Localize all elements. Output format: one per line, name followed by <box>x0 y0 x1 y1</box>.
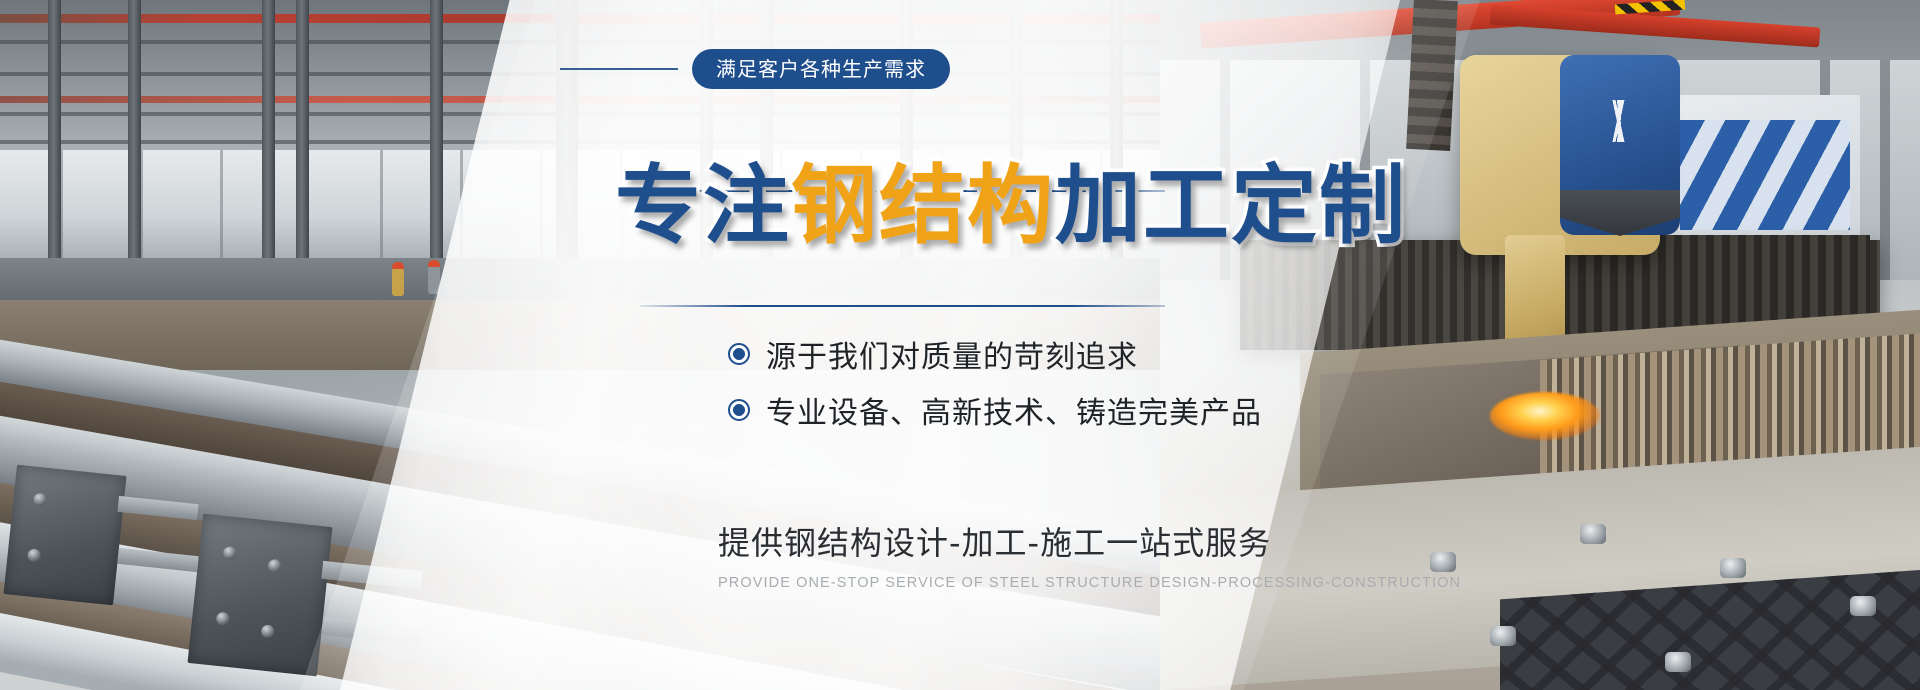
bullet-label: 专业设备、高新技术、铸造完美产品 <box>766 388 1262 432</box>
headline-bottom-rule <box>640 305 1165 307</box>
feature-bullet-list: 源于我们对质量的苛刻追求 专业设备、高新技术、铸造完美产品 <box>728 330 1262 442</box>
list-item: 专业设备、高新技术、铸造完美产品 <box>728 386 1262 434</box>
footer-english-line: PROVIDE ONE-STOP SERVICE OF STEEL STRUCT… <box>718 575 1461 591</box>
badge-leading-rule <box>560 68 678 70</box>
headline-part-3: 加工定制 <box>1055 163 1407 249</box>
headline-part-1: 专注 <box>615 163 791 249</box>
tagline-badge-row: 满足客户各种生产需求 <box>560 48 950 90</box>
list-item: 源于我们对质量的苛刻追求 <box>728 330 1262 378</box>
hero-banner: 满足客户各种生产需求 专注 钢结构 加工定制 源于我们对质量的苛刻追求 专业设备… <box>0 0 1920 690</box>
banner-content: 满足客户各种生产需求 专注 钢结构 加工定制 源于我们对质量的苛刻追求 专业设备… <box>0 0 1920 690</box>
headline-part-2: 钢结构 <box>791 163 1055 249</box>
bullet-label: 源于我们对质量的苛刻追求 <box>766 332 1138 376</box>
tagline-badge: 满足客户各种生产需求 <box>692 49 950 89</box>
ring-dot-icon <box>728 343 750 365</box>
footer-chinese-line: 提供钢结构设计-加工-施工一站式服务 <box>718 518 1271 564</box>
ring-dot-icon <box>728 399 750 421</box>
headline: 专注 钢结构 加工定制 <box>615 163 1407 249</box>
